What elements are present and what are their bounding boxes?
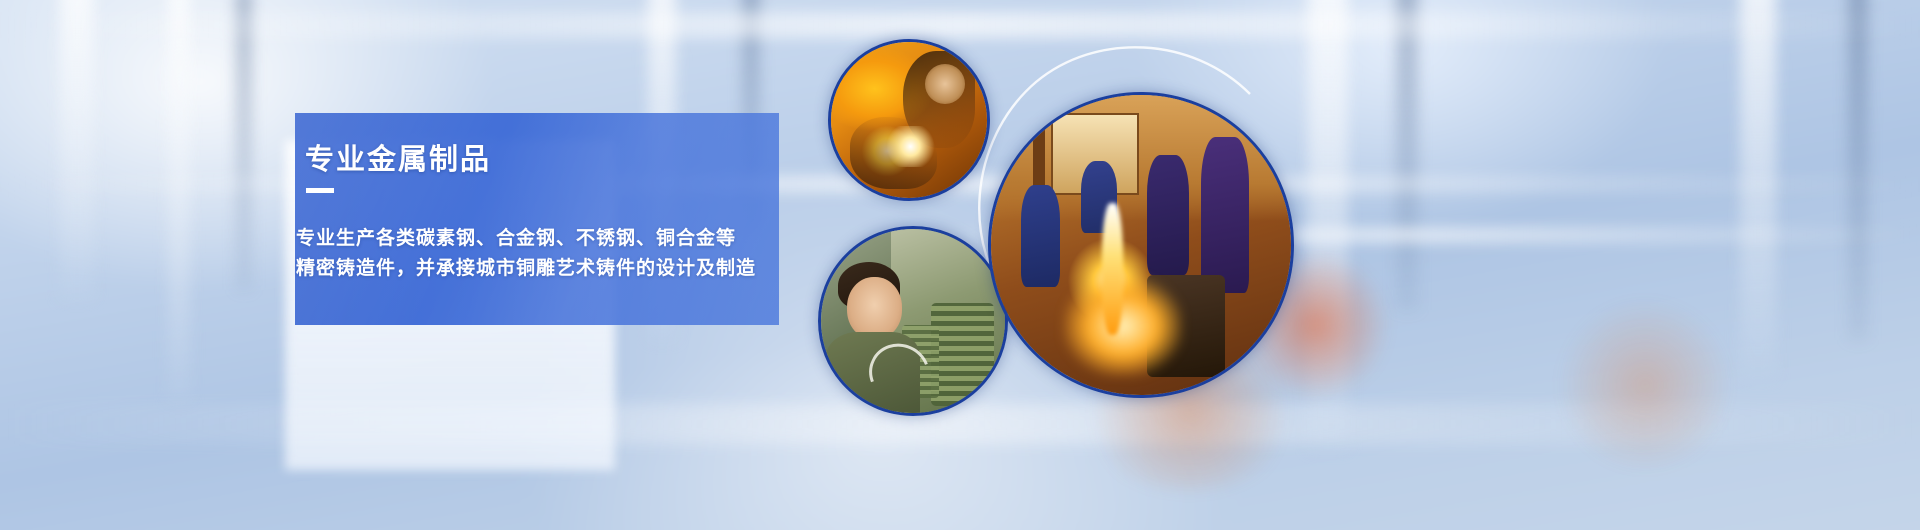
hero-banner: 专业金属制品 专业生产各类碳素钢、合金钢、不锈钢、铜合金等 精密铸造件，并承接城…: [0, 0, 1920, 530]
panel-description-line-1: 专业生产各类碳素钢、合金钢、不锈钢、铜合金等: [296, 224, 856, 254]
welding-photo-image: [831, 42, 987, 198]
foundry-photo-image: [991, 95, 1291, 395]
background-beam: [1848, 0, 1868, 340]
background-warm-glow: [1560, 300, 1730, 470]
welding-photo: [828, 39, 990, 201]
foundry-photo: [988, 92, 1294, 398]
title-divider: [306, 188, 334, 193]
background-beam: [236, 0, 252, 290]
panel-description: 专业生产各类碳素钢、合金钢、不锈钢、铜合金等 精密铸造件，并承接城市铜雕艺术铸件…: [296, 224, 856, 284]
background-beam: [60, 0, 94, 300]
panel-title: 专业金属制品: [305, 136, 491, 178]
background-beam: [168, 0, 190, 400]
panel-description-line-2: 精密铸造件，并承接城市铜雕艺术铸件的设计及制造: [296, 254, 856, 284]
background-beam: [1396, 0, 1418, 310]
